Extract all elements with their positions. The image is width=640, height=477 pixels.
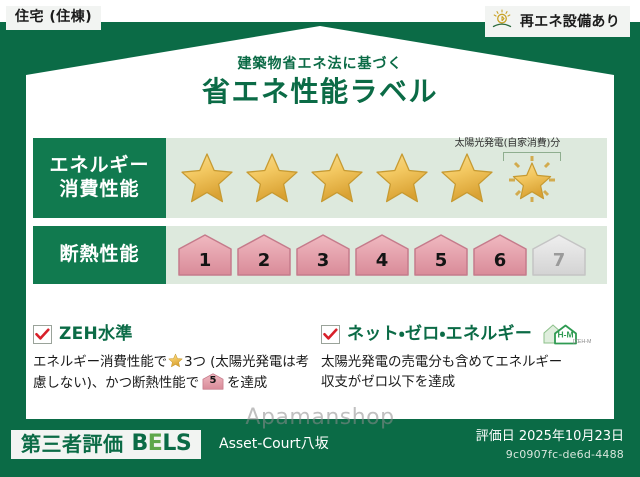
insulation-badge-6: 6 (472, 233, 528, 277)
energy-performance-body: 太陽光発電(自家消費)分 (166, 138, 607, 218)
insulation-badge-4: 4 (354, 233, 410, 277)
inline-insulation-badge: 5 (201, 373, 225, 390)
claim-zeh-text-1: エネルギー消費性能で (33, 354, 167, 370)
star-icon (309, 151, 365, 205)
title-block: 建築物省エネ法に基づく 省エネ性能ラベル (0, 57, 640, 106)
checkbox-checked-icon (321, 325, 340, 344)
bels-logo: BELS (132, 433, 192, 455)
evaluation-id: 9c0907fc-de6d-4488 (506, 449, 624, 460)
zeh-m-house-logo: H-M [ZEH-M] (541, 321, 591, 347)
energy-performance-row: エネルギー 消費性能 (33, 138, 607, 218)
star-slot-1 (175, 151, 238, 205)
claim-netzero-line-1: 太陽光発電の売電分も含めてエネルギー (321, 353, 599, 373)
star-slot-2 (240, 151, 303, 205)
bels-letter-e: E (148, 431, 163, 456)
insulation-badge-3: 3 (295, 233, 351, 277)
claim-zeh-text-2: 3つ (太陽光発電 (184, 354, 282, 370)
insulation-badge-5: 5 (413, 233, 469, 277)
star-slot-solar: 太陽光発電(自家消費)分 (500, 150, 563, 206)
insulation-performance-body: 1 2 3 (166, 226, 607, 284)
claim-netzero-line-2: 収支がゼロ以下を達成 (321, 373, 599, 393)
renewable-equipment-badge: 再エネ設備あり (485, 6, 630, 37)
star-icon (179, 151, 235, 205)
performance-rows: エネルギー 消費性能 (33, 138, 607, 292)
claim-net-zero-energy: ネット・ゼロ・エネルギー H-M [ZEH-M] 太陽光発電の売電分も含めてエネ… (321, 322, 609, 393)
claim-netzero-body: 太陽光発電の売電分も含めてエネルギー 収支がゼロ以下を達成 (321, 353, 599, 392)
star-slot-3 (305, 151, 368, 205)
insulation-badge-value: 1 (199, 252, 212, 277)
star-icon (439, 151, 495, 205)
insulation-badge-value: 3 (317, 252, 330, 277)
page-title: 省エネ性能ラベル (0, 78, 640, 106)
title-subtitle: 建築物省エネ法に基づく (0, 57, 640, 71)
star-icon (374, 151, 430, 205)
energy-performance-label: エネルギー 消費性能 (33, 138, 166, 218)
insulation-performance-row: 断熱性能 (33, 226, 607, 284)
building-name: Asset-Court八坂 (219, 437, 329, 451)
insulation-performance-label: 断熱性能 (33, 226, 166, 284)
insulation-badge-7: 7 (531, 233, 587, 277)
claim-zeh-header: ZEH水準 (33, 322, 311, 346)
energy-performance-label: 住宅 (住棟) 再エネ設備あり 建築物省エネ法に基づく 省エネ性能ラベル (0, 0, 640, 477)
evaluation-date: 評価日 2025年10月23日 (476, 430, 624, 443)
claim-zeh-text-4: を達成 (227, 375, 267, 391)
energy-label-line1: エネルギー (49, 154, 149, 178)
star-slot-5 (435, 151, 498, 205)
claim-netzero-title: ネット・ゼロ・エネルギー (347, 326, 532, 343)
star-icon (168, 353, 183, 368)
insulation-grade-scale: 1 2 3 (166, 233, 587, 277)
claim-zeh-title: ZEH水準 (59, 326, 133, 343)
energy-label-line2: 消費性能 (59, 178, 139, 202)
insulation-badge-value: 4 (376, 252, 389, 277)
insulation-badge-value: 6 (494, 252, 507, 277)
checkbox-checked-icon (33, 325, 52, 344)
star-icon (244, 151, 300, 205)
svg-text:H-M: H-M (558, 329, 574, 339)
claim-netzero-header: ネット・ゼロ・エネルギー H-M [ZEH-M] (321, 322, 599, 346)
bels-letter-b: B (132, 431, 148, 456)
insulation-badge-value: 7 (553, 252, 566, 277)
inline-insulation-value: 5 (201, 373, 225, 390)
renewable-badge-label: 再エネ設備あり (520, 11, 620, 31)
star-rating: 太陽光発電(自家消費)分 (166, 150, 563, 206)
housing-type-tag: 住宅 (住棟) (6, 6, 101, 30)
svg-text:[ZEH-M]: [ZEH-M] (573, 339, 591, 345)
claim-zeh-body: エネルギー消費性能で3つ (太陽光発電は考慮しない)、かつ断熱性能で5を達成 (33, 353, 311, 393)
claims-section: ZEH水準 エネルギー消費性能で3つ (太陽光発電は考慮しない)、かつ断熱性能で… (33, 322, 609, 393)
insulation-badge-2: 2 (236, 233, 292, 277)
star-slot-4 (370, 151, 433, 205)
sun-renewable-icon (491, 9, 515, 33)
bels-letter-ls: LS (162, 431, 191, 456)
third-party-evaluation-label: 第三者評価 (21, 434, 124, 454)
insulation-badge-value: 2 (258, 252, 271, 277)
insulation-badge-value: 5 (435, 252, 448, 277)
insulation-badge-1: 1 (177, 233, 233, 277)
bels-certification-badge: 第三者評価 BELS (11, 430, 201, 459)
solar-bracket (503, 152, 561, 161)
claim-zeh-standard: ZEH水準 エネルギー消費性能で3つ (太陽光発電は考慮しない)、かつ断熱性能で… (33, 322, 321, 393)
footer: 第三者評価 BELS Asset-Court八坂 評価日 2025年10月23日… (0, 424, 640, 477)
solar-self-consumption-caption: 太陽光発電(自家消費)分 (455, 134, 560, 149)
